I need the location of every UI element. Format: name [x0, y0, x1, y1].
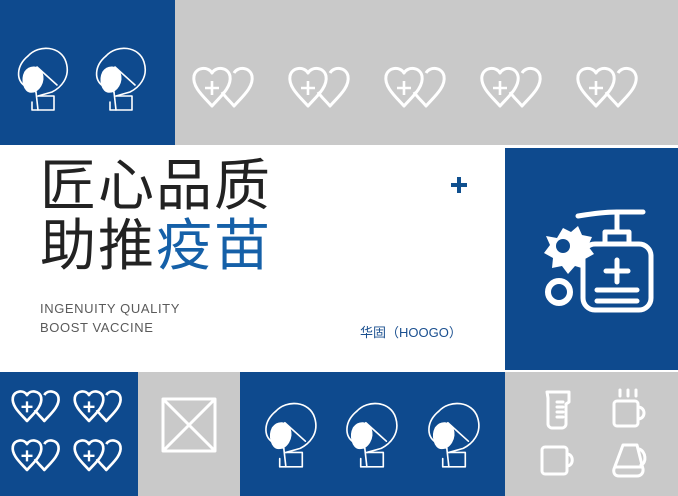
double-heart-plus-icon [71, 388, 129, 432]
masked-face-icon [255, 395, 327, 473]
top-mask-head-group [8, 38, 168, 118]
headline-line-1: 匠心品质 [40, 158, 272, 214]
masked-face-icon [86, 40, 156, 116]
hand-sanitizer-bottle-icon [525, 198, 665, 323]
bottom-mask-head-group [250, 394, 495, 474]
top-gray-band [0, 0, 678, 145]
plus-accent-icon [450, 176, 468, 194]
vessel-tile [505, 372, 678, 496]
brand-name: 华固（HOOGO） [360, 322, 462, 341]
bottom-heart-tile [0, 372, 138, 496]
mug-icon [535, 437, 581, 483]
vessel-grid [523, 384, 663, 484]
measuring-beaker-icon [535, 386, 581, 432]
masked-face-icon [418, 395, 490, 473]
double-heart-plus-icon [382, 64, 454, 120]
masked-face-icon [336, 395, 408, 473]
double-heart-plus-icon [9, 437, 67, 481]
double-heart-plus-icon [286, 64, 358, 120]
steaming-cup-icon [606, 386, 652, 432]
bottom-heart-grid [8, 386, 130, 482]
headline-line-2-plain: 助推 [40, 214, 156, 277]
double-heart-plus-icon [9, 388, 67, 432]
carafe-icon [606, 437, 652, 483]
subtitle: INGENUITY QUALITY BOOST VACCINE [40, 300, 180, 338]
top-heart-row [190, 62, 670, 122]
top-blue-tile [0, 0, 175, 145]
image-placeholder-icon [160, 396, 218, 454]
subtitle-line-1: INGENUITY QUALITY [40, 300, 180, 319]
double-heart-plus-icon [478, 64, 550, 120]
sanitizer-panel [505, 148, 678, 370]
double-heart-plus-icon [71, 437, 129, 481]
placeholder-tile [138, 372, 240, 496]
headline-line-2: 助推疫苗 [40, 218, 272, 274]
double-heart-plus-icon [574, 64, 646, 120]
double-heart-plus-icon [190, 64, 262, 120]
headline-line-2-accent: 疫苗 [156, 214, 272, 277]
page-title: 匠心品质 助推疫苗 [40, 158, 272, 274]
bottom-mask-tile [240, 372, 505, 496]
poster-canvas: 匠心品质 助推疫苗 INGENUITY QUALITY BOOST VACCIN… [0, 0, 678, 496]
masked-face-icon [8, 40, 78, 116]
subtitle-line-2: BOOST VACCINE [40, 319, 180, 338]
